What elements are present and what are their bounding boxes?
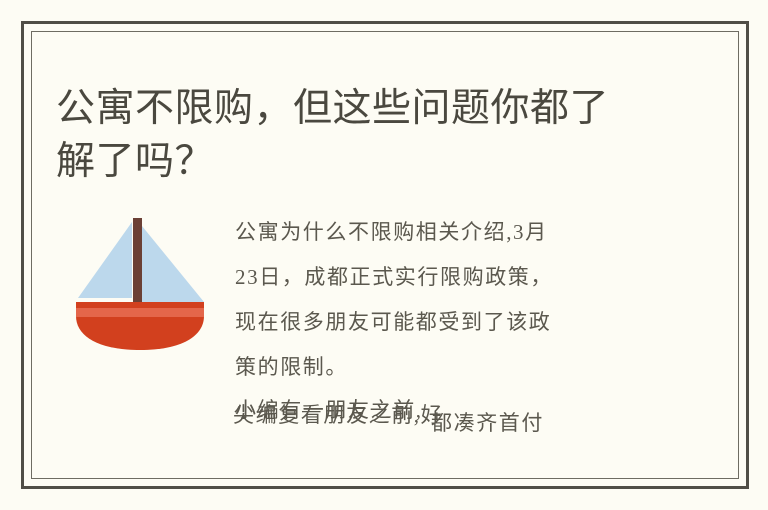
page-title: 公寓不限购，但这些问题你都了 解了吗？ <box>56 82 696 188</box>
body-line: 23日，成都正式实行限购政策， <box>235 255 665 300</box>
body-line: 公寓为什么不限购相关介绍,3月 <box>235 210 665 255</box>
sailboat-icon <box>64 204 216 356</box>
article-body: 公寓为什么不限购相关介绍,3月 23日，成都正式实行限购政策， 现在很多朋友可能… <box>235 210 665 435</box>
clipped-text-tail: 都凑齐首付 <box>431 401 544 446</box>
article-content: 公寓为什么不限购相关介绍,3月 23日，成都正式实行限购政策， 现在很多朋友可能… <box>56 196 712 458</box>
article-card: 公寓不限购，但这些问题你都了 解了吗？ 公寓为什么不限购相关介绍,3月 23日，… <box>0 0 768 510</box>
body-line-clipped: 小编有一朋友之前, 尖编复看朋友之前,好 都凑齐首付 <box>235 390 665 435</box>
body-line: 策的限制。 <box>235 345 665 390</box>
clipped-text-layer-b: 尖编复看朋友之前,好 <box>233 393 443 438</box>
body-line: 现在很多朋友可能都受到了该政 <box>235 300 665 345</box>
